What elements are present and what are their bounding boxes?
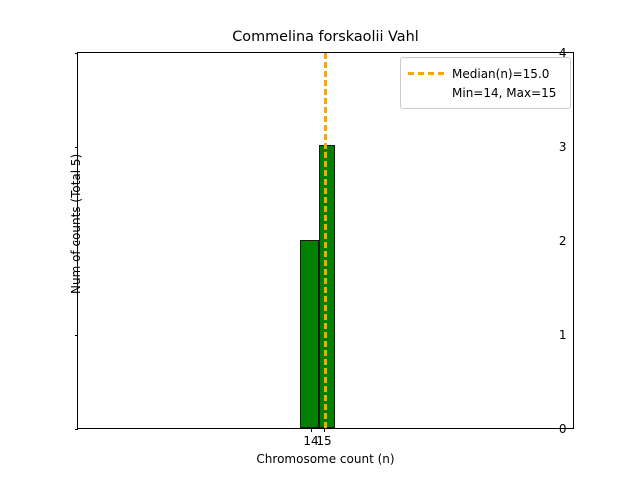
x-tick-15 <box>324 428 325 432</box>
bar-14 <box>300 240 319 429</box>
x-tick-label-15: 15 <box>316 434 331 448</box>
y-tick-label-1: 1 <box>559 329 567 341</box>
blank-marker-icon <box>408 91 444 94</box>
chart-legend: Median(n)=15.0 Min=14, Max=15 <box>400 57 571 109</box>
chart-figure: Commelina forskaolii Vahl 0 1 2 3 4 Num … <box>0 0 640 480</box>
y-tick-label-2: 2 <box>559 235 567 247</box>
bar-15 <box>319 145 335 428</box>
legend-entry-minmax: Min=14, Max=15 <box>408 83 562 102</box>
dashed-line-icon <box>408 72 444 75</box>
plot-inner <box>78 53 573 428</box>
y-tick-4 <box>75 53 79 54</box>
y-tick-1 <box>75 335 79 336</box>
x-tick-14 <box>311 428 312 432</box>
y-tick-3 <box>75 147 79 148</box>
legend-label-median: Median(n)=15.0 <box>452 67 549 81</box>
median-line <box>324 53 327 428</box>
y-axis-label: Num of counts (Total 5) <box>69 153 83 293</box>
x-axis-label: Chromosome count (n) <box>77 452 574 466</box>
legend-entry-median: Median(n)=15.0 <box>408 64 562 83</box>
y-tick-0 <box>75 429 79 430</box>
legend-label-minmax: Min=14, Max=15 <box>452 86 556 100</box>
y-tick-label-3: 3 <box>559 141 567 153</box>
y-tick-label-0: 0 <box>559 423 567 435</box>
chart-title: Commelina forskaolii Vahl <box>77 29 574 46</box>
